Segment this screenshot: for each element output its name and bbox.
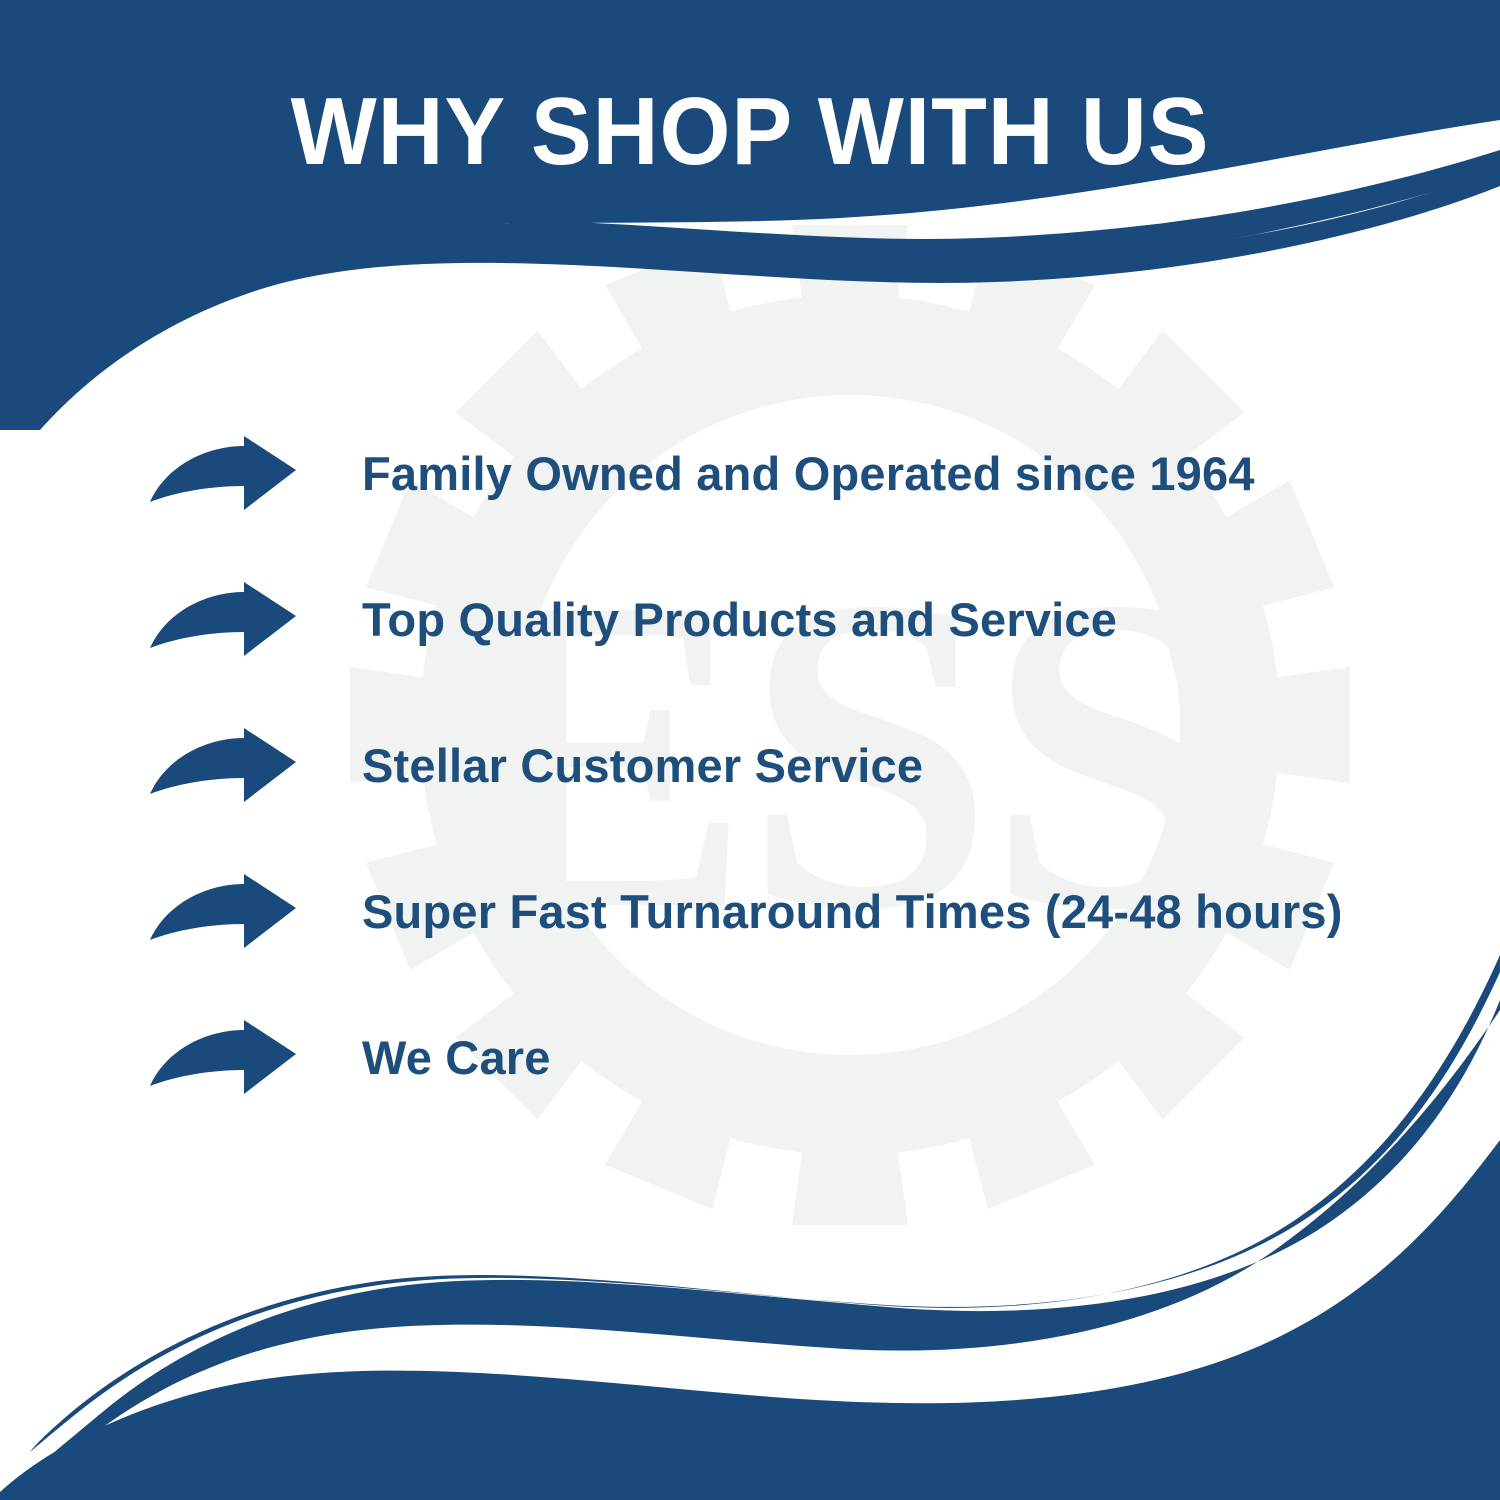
curved-right-arrow-icon: [148, 580, 298, 660]
benefits-list: Family Owned and Operated since 1964 Top…: [148, 425, 1448, 1107]
curved-right-arrow-icon: [148, 1018, 298, 1098]
curved-right-arrow-icon: [148, 726, 298, 806]
curved-right-arrow-icon: [148, 434, 298, 514]
benefit-label: Stellar Customer Service: [362, 740, 923, 792]
list-item: Family Owned and Operated since 1964: [148, 425, 1448, 523]
benefit-label: Family Owned and Operated since 1964: [362, 448, 1255, 500]
benefit-label: Top Quality Products and Service: [362, 594, 1117, 646]
benefit-label: Super Fast Turnaround Times (24-48 hours…: [362, 886, 1343, 938]
why-shop-with-us-banner: ESS WHY SHOP WITH US Family Owned and Op…: [0, 0, 1500, 1500]
page-title: WHY SHOP WITH US: [38, 80, 1463, 184]
benefit-label: We Care: [362, 1032, 551, 1084]
curved-right-arrow-icon: [148, 872, 298, 952]
list-item: Super Fast Turnaround Times (24-48 hours…: [148, 863, 1448, 961]
footer-blue-band: [0, 1140, 1500, 1500]
header-blue-band: [0, 0, 1500, 430]
list-item: Stellar Customer Service: [148, 717, 1448, 815]
header-accent-sweep: [28, 168, 1500, 420]
list-item: Top Quality Products and Service: [148, 571, 1448, 669]
list-item: We Care: [148, 1009, 1448, 1107]
